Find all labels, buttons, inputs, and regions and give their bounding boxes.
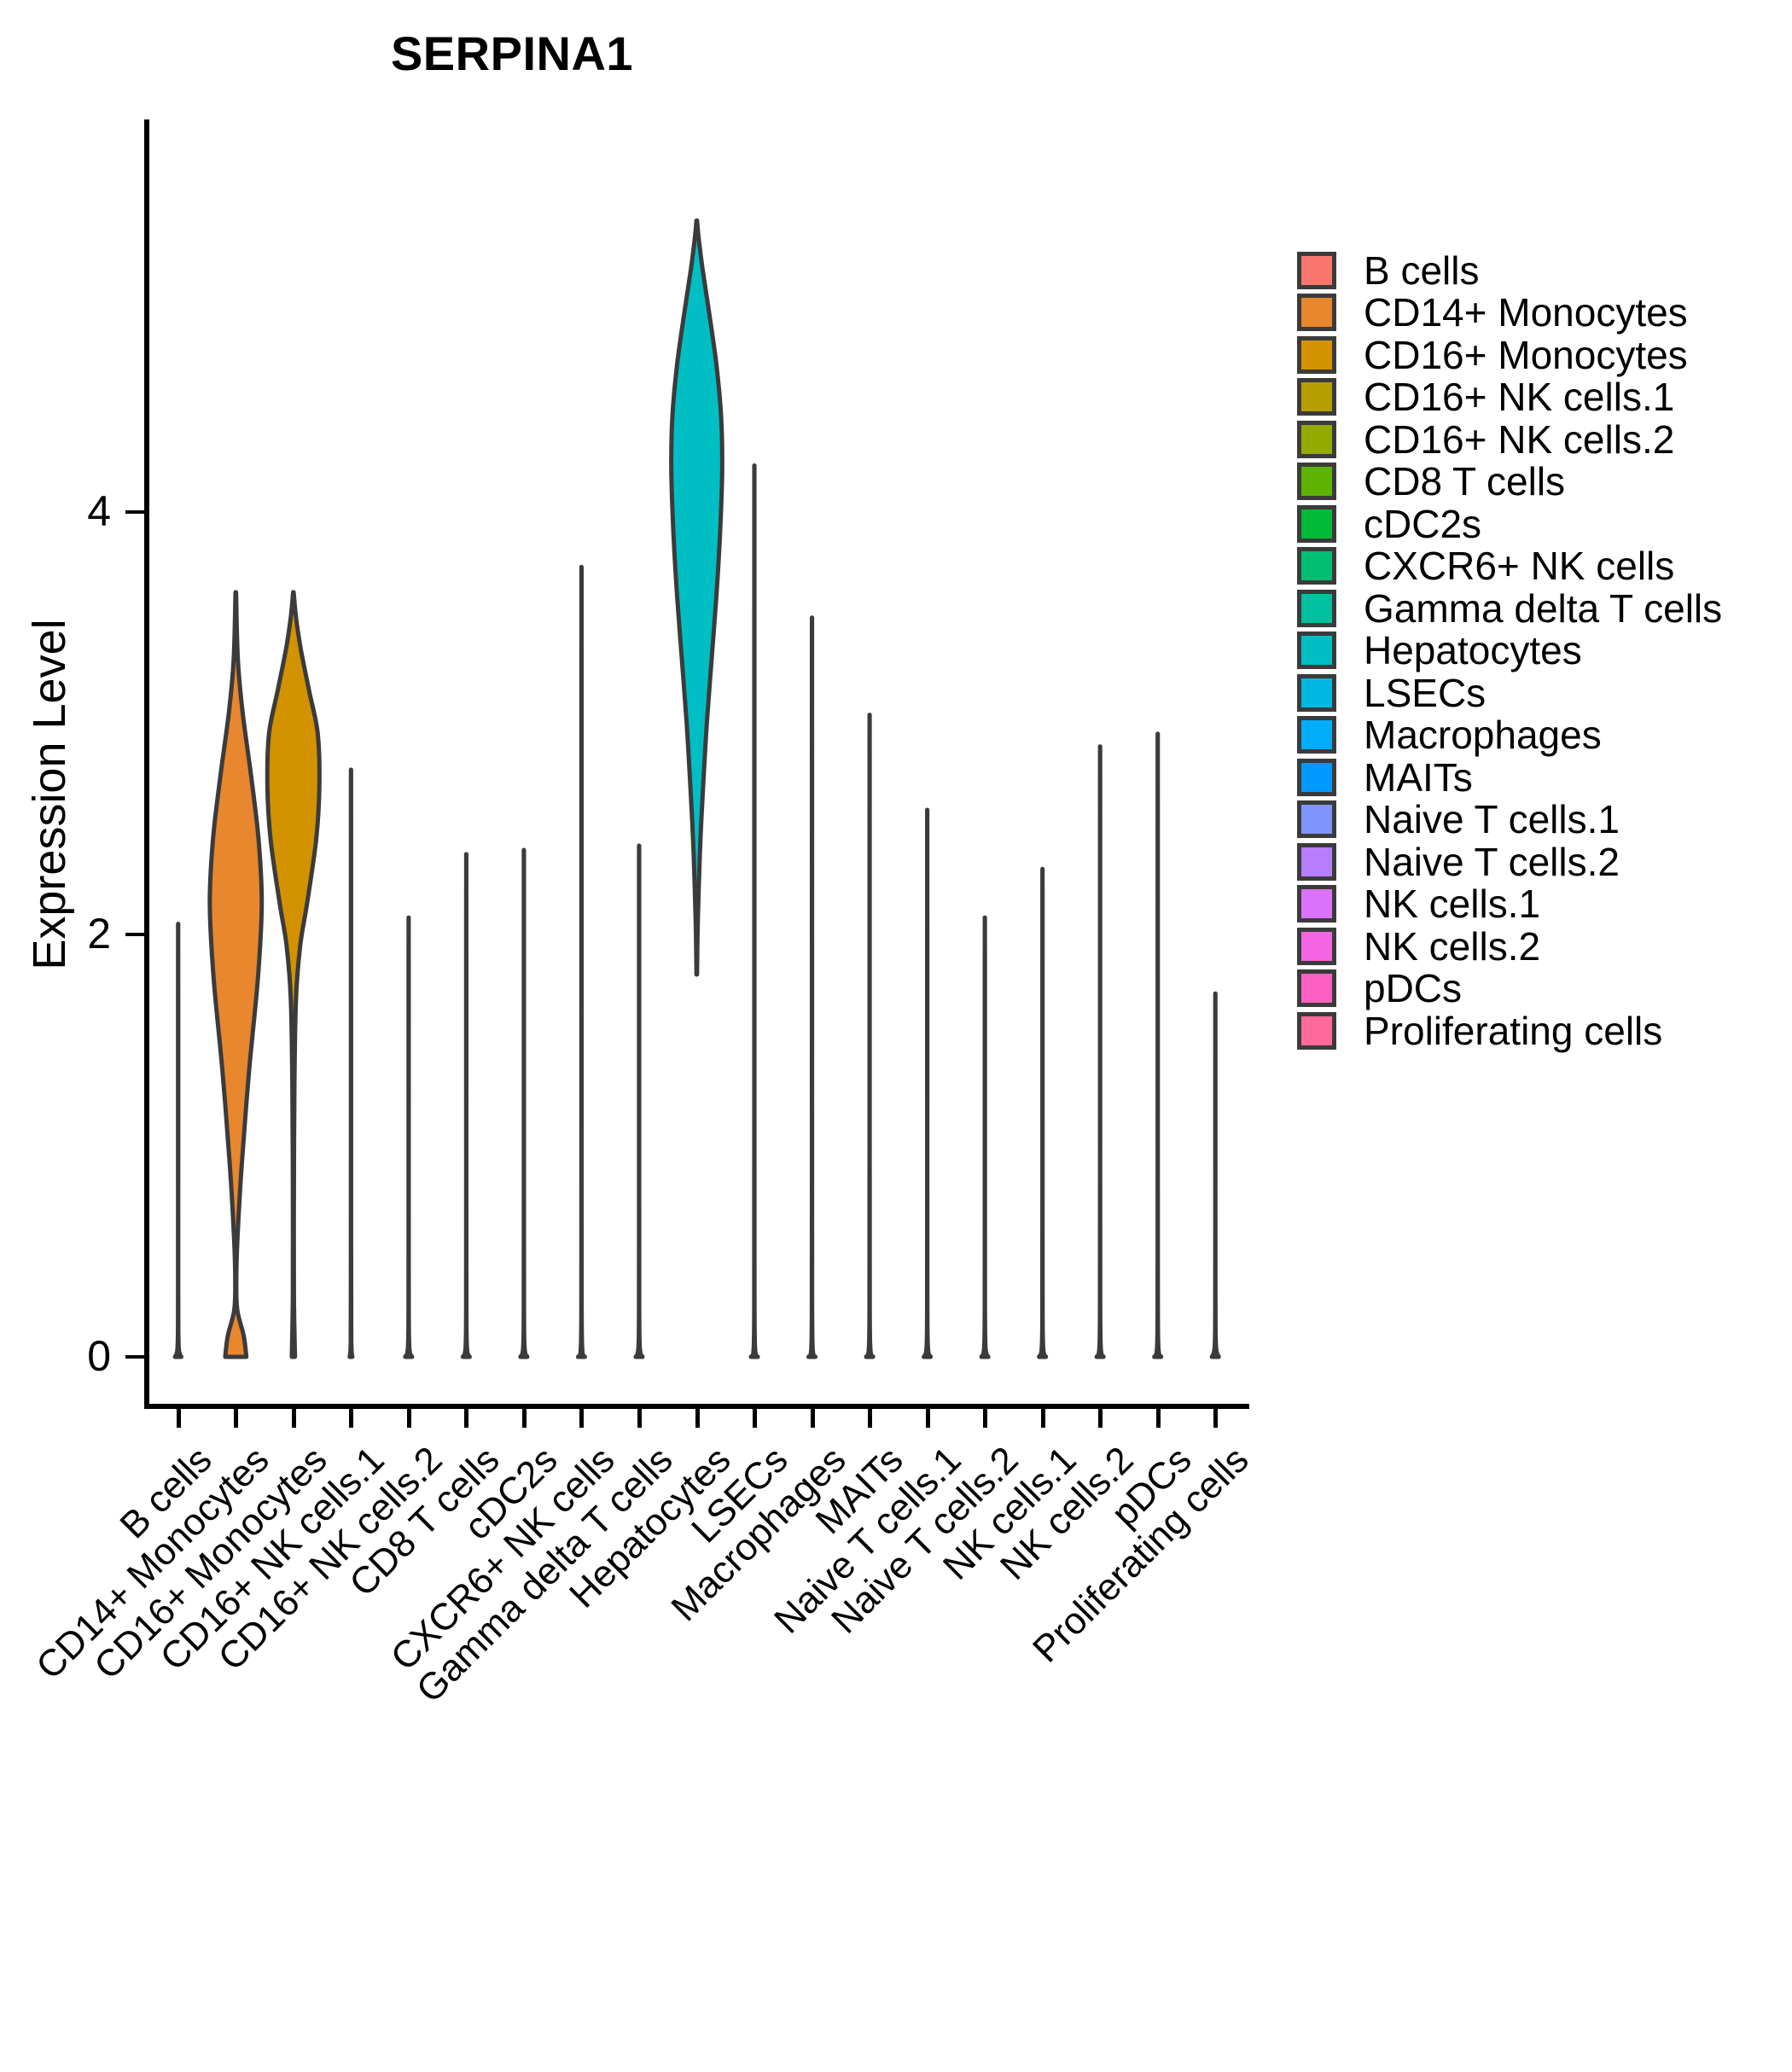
legend-item[interactable]: Naive T cells.1 — [1297, 799, 1722, 841]
legend-item-label: NK cells.1 — [1364, 884, 1540, 923]
violin-naive-t-cells-1 — [924, 810, 931, 1357]
legend: B cellsCD14+ MonocytesCD16+ MonocytesCD1… — [1297, 249, 1722, 1052]
legend-color-swatch — [1297, 294, 1336, 331]
legend-item[interactable]: CD8 T cells — [1297, 461, 1722, 503]
legend-item[interactable]: B cells — [1297, 249, 1722, 292]
violin-naive-t-cells-2 — [981, 917, 988, 1357]
legend-item-label: CXCR6+ NK cells — [1364, 546, 1674, 585]
legend-item[interactable]: pDCs — [1297, 968, 1722, 1010]
legend-item[interactable]: Hepatocytes — [1297, 630, 1722, 672]
violin-hepatocytes — [672, 220, 723, 975]
legend-item-label: Proliferating cells — [1364, 1011, 1662, 1051]
legend-item-label: NK cells.2 — [1364, 927, 1540, 966]
legend-color-swatch — [1297, 421, 1336, 458]
legend-color-swatch — [1297, 463, 1336, 500]
legend-item[interactable]: CD16+ NK cells.1 — [1297, 376, 1722, 419]
violin-cd16-nk-cells-2 — [405, 917, 412, 1357]
legend-item-label: Macrophages — [1364, 715, 1602, 754]
violin-proliferating-cells — [1212, 993, 1219, 1357]
legend-item[interactable]: CD14+ Monocytes — [1297, 292, 1722, 335]
legend-item-label: Gamma delta T cells — [1364, 589, 1722, 628]
legend-color-swatch — [1297, 928, 1336, 965]
legend-color-swatch — [1297, 252, 1336, 289]
violin-pdcs — [1155, 734, 1161, 1357]
legend-item-label: pDCs — [1364, 969, 1462, 1008]
violin-maits — [866, 715, 873, 1357]
legend-item-label: Naive T cells.1 — [1364, 800, 1620, 839]
legend-item-label: B cells — [1364, 251, 1479, 290]
legend-item[interactable]: LSECs — [1297, 672, 1722, 714]
legend-item[interactable]: CXCR6+ NK cells — [1297, 545, 1722, 588]
violin-cd16-monocytes — [267, 592, 319, 1357]
legend-color-swatch — [1297, 336, 1336, 374]
legend-item-label: Naive T cells.2 — [1364, 842, 1620, 882]
legend-color-swatch — [1297, 843, 1336, 881]
violin-macrophages — [809, 618, 816, 1357]
legend-item[interactable]: NK cells.2 — [1297, 925, 1722, 968]
legend-item[interactable]: cDC2s — [1297, 503, 1722, 545]
violin-cd14-monocytes — [210, 592, 262, 1357]
legend-color-swatch — [1297, 631, 1336, 669]
legend-color-swatch — [1297, 674, 1336, 712]
legend-item-label: CD16+ Monocytes — [1364, 335, 1688, 375]
legend-item[interactable]: NK cells.1 — [1297, 883, 1722, 926]
legend-color-swatch — [1297, 759, 1336, 796]
legend-color-swatch — [1297, 716, 1336, 754]
legend-item[interactable]: MAITs — [1297, 756, 1722, 799]
legend-color-swatch — [1297, 885, 1336, 923]
violin-nk-cells-2 — [1097, 747, 1103, 1357]
legend-item[interactable]: Gamma delta T cells — [1297, 587, 1722, 630]
legend-item[interactable]: CD16+ Monocytes — [1297, 334, 1722, 376]
violin-gamma-delta-t-cells — [636, 846, 643, 1357]
violin-lsecs — [751, 466, 758, 1357]
violin-cd16-nk-cells-1 — [350, 770, 352, 1357]
legend-item-label: Hepatocytes — [1364, 631, 1582, 670]
legend-item[interactable]: Macrophages — [1297, 714, 1722, 757]
violin-cxcr6-nk-cells — [578, 567, 585, 1357]
legend-color-swatch — [1297, 969, 1336, 1007]
legend-item-label: CD8 T cells — [1364, 462, 1565, 501]
violin-cd8-t-cells — [463, 854, 469, 1357]
legend-color-swatch — [1297, 547, 1336, 585]
legend-item-label: CD16+ NK cells.2 — [1364, 420, 1674, 459]
legend-color-swatch — [1297, 505, 1336, 543]
legend-item-label: LSECs — [1364, 673, 1486, 713]
violin-plot-figure: SERPINA1 Expression Level 024 B cellsCD1… — [0, 0, 1792, 1792]
violin-cdc2s — [521, 850, 527, 1357]
legend-color-swatch — [1297, 800, 1336, 838]
violin-nk-cells-1 — [1039, 869, 1046, 1357]
legend-item[interactable]: CD16+ NK cells.2 — [1297, 418, 1722, 461]
violin-b-cells — [175, 924, 181, 1357]
legend-color-swatch — [1297, 590, 1336, 627]
legend-color-swatch — [1297, 378, 1336, 416]
violin-series-layer — [0, 0, 1280, 1451]
legend-item[interactable]: Proliferating cells — [1297, 1010, 1722, 1052]
legend-item-label: MAITs — [1364, 758, 1473, 797]
legend-item[interactable]: Naive T cells.2 — [1297, 841, 1722, 883]
legend-color-swatch — [1297, 1012, 1336, 1050]
legend-item-label: CD16+ NK cells.1 — [1364, 377, 1674, 416]
legend-item-label: CD14+ Monocytes — [1364, 293, 1688, 332]
legend-item-label: cDC2s — [1364, 504, 1481, 544]
